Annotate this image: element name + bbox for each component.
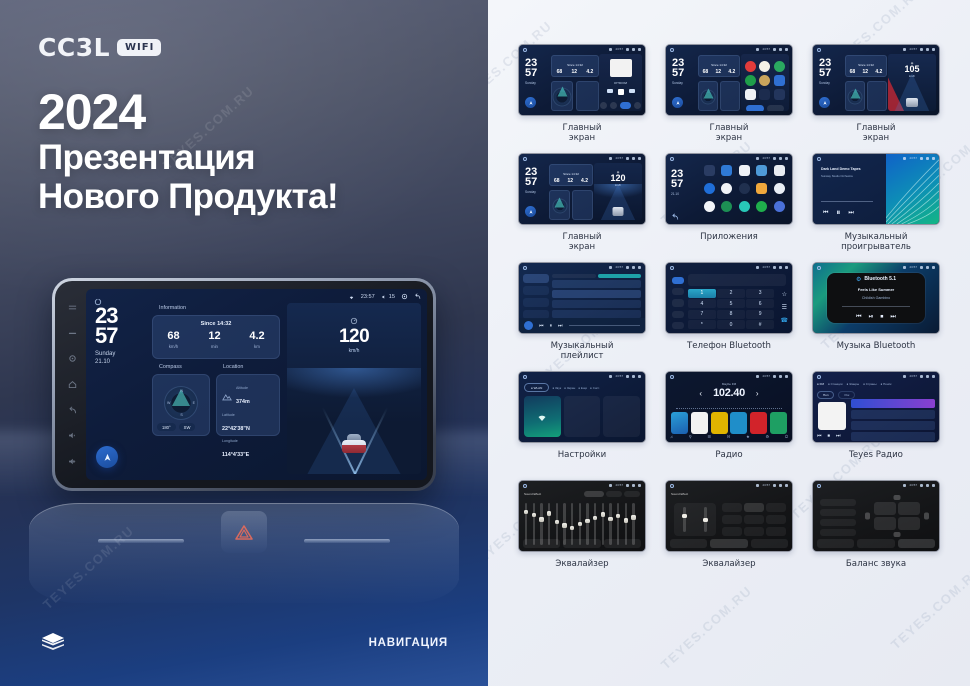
prev-icon: ⏮ xyxy=(823,210,828,217)
compass-s: S xyxy=(180,413,182,417)
player-bar: ⏮⏸⏭ xyxy=(519,318,645,333)
preset-4 xyxy=(730,412,747,434)
eq-footer-tabs[interactable] xyxy=(817,539,935,548)
logo-wifi-badge: WIFI xyxy=(117,39,161,56)
thumbnail-grid: 23:57 2357Sunday Since 14:32 68124.2 07:… xyxy=(512,44,946,589)
location-card xyxy=(576,81,599,111)
eq-preset-buttons[interactable] xyxy=(584,491,640,497)
thumb-caption: Музыка Bluetooth xyxy=(806,341,946,371)
thumb-caption: Эквалайзер xyxy=(659,559,799,589)
status-bar-mini: 23:57 xyxy=(609,156,641,160)
dial-display xyxy=(688,274,786,286)
radio-frequency: 102.40 xyxy=(713,387,745,399)
compass-card-title: Compass xyxy=(159,364,182,370)
next-icon: ⏭ xyxy=(890,314,895,321)
volume-up-key-icon[interactable] xyxy=(68,457,77,466)
preset-1 xyxy=(671,412,688,434)
app-icon-camera xyxy=(774,165,785,176)
vent-slot-left xyxy=(98,539,184,543)
navigation-arrow-icon xyxy=(672,97,683,108)
status-bar-mini: 23:57 xyxy=(609,265,641,269)
dial-key[interactable]: 3 xyxy=(746,289,774,298)
play-pause-icon: ⏯ xyxy=(869,314,874,321)
location-card-title: Location xyxy=(223,364,243,370)
thumb-caption: Главныйэкран xyxy=(512,123,652,153)
navigation-label: НАВИГАЦИЯ xyxy=(369,637,448,649)
dashboard-vent-panel xyxy=(29,503,458,603)
speed-navigation-panel: ◉ 105 km/h xyxy=(888,54,936,111)
gallery-cell[interactable]: 23:57 ● WLAN ● Звук ● Экран ● Ещё ● Сист… xyxy=(512,371,652,480)
speed-value: 105 xyxy=(888,65,936,74)
thumb-caption: Главныйэкран xyxy=(659,123,799,153)
app-icon-maps xyxy=(721,201,732,212)
home-icon xyxy=(670,48,674,52)
presentation-slide: TEYES.COM.RU TEYES.COM.RU TEYES.COM.RU C… xyxy=(0,0,970,686)
gallery-cell[interactable]: 23:57 xyxy=(512,262,652,371)
information-card[interactable]: Information Since 14:32 68 km/h 12 xyxy=(152,315,280,359)
location-card xyxy=(867,81,887,111)
hero-panel: TEYES.COM.RU TEYES.COM.RU TEYES.COM.RU C… xyxy=(0,0,488,686)
gallery-cell[interactable]: 23:57 2357Sunday Since 14:32 68124.2 07:… xyxy=(512,44,652,153)
settings-icon: ⚙ xyxy=(765,434,769,439)
favorite-icon: ☆ xyxy=(782,291,787,298)
home-icon xyxy=(817,484,821,488)
thumb-equalizer-bars[interactable]: 23:57 Sound Effect xyxy=(518,480,646,552)
eq-preset-grid[interactable] xyxy=(722,503,786,536)
status-bar-mini: 23:57 xyxy=(756,265,788,269)
wifi-icon xyxy=(348,294,355,300)
thumb-music-playlist[interactable]: 23:57 xyxy=(518,262,646,334)
home-icon xyxy=(523,157,527,161)
information-since-label: Since 14:32 xyxy=(153,321,279,327)
app-icon-shazam xyxy=(704,201,715,212)
app-grid xyxy=(701,162,787,214)
compass-card xyxy=(549,190,570,220)
play-pause-icon: ⏸ xyxy=(550,323,553,329)
thumb-caption: Эквалайзер xyxy=(512,559,652,589)
thumb-caption: Настройки xyxy=(512,450,652,480)
dial-key[interactable]: 9 xyxy=(746,310,774,319)
location-card xyxy=(720,81,740,111)
status-bar-mini: 23:57 xyxy=(903,156,935,160)
speed-unit: km/h xyxy=(287,348,421,354)
status-bar-mini: 23:57 xyxy=(903,483,935,487)
status-bar-mini: 23:57 xyxy=(903,374,935,378)
next-icon: ⏭ xyxy=(848,210,853,217)
logo-brand-text: CC3L xyxy=(38,33,110,62)
layers-icon xyxy=(40,632,66,654)
bluetooth-version: Bluetooth 5.1 xyxy=(864,276,896,282)
home-icon xyxy=(817,157,821,161)
tab-system: ● Сист. xyxy=(590,386,600,390)
status-bar-mini: 23:57 xyxy=(756,374,788,378)
compass-e: E xyxy=(193,401,195,405)
thumb-bluetooth-music[interactable]: 23:57 ⚙ Bluetooth 5.1 Feels Like Summer … xyxy=(812,262,940,334)
thumb-bluetooth-phone[interactable]: 23:57 1 2 3 4 5 6 xyxy=(665,262,793,334)
tab-display: ● Экран xyxy=(564,386,575,390)
home-icon xyxy=(817,48,821,52)
tab-wlan: ● WLAN xyxy=(524,383,549,392)
bluetooth-icon: ⚙ xyxy=(856,276,861,283)
speed-unit: km/h xyxy=(888,74,936,78)
preset-5 xyxy=(750,412,767,434)
app-icon-radio xyxy=(774,201,785,212)
status-volume-value: 15 xyxy=(389,294,395,300)
dial-key[interactable]: 6 xyxy=(746,299,774,308)
compass-card xyxy=(551,81,573,111)
location-altitude-row: Altitude 374m xyxy=(222,386,274,408)
app-shortcuts xyxy=(741,54,789,111)
balance-right xyxy=(924,513,929,520)
vent-slot-right xyxy=(304,539,390,543)
thumb-equalizer-presets[interactable]: 23:57 Sound Effect xyxy=(665,480,793,552)
playlist-sidebar xyxy=(523,274,549,317)
compass-card[interactable]: Compass N E S W 180° S xyxy=(152,374,210,436)
progress-bar xyxy=(842,306,911,307)
status-bar: 23:57 15 xyxy=(348,293,421,300)
dial-key[interactable]: * xyxy=(688,320,716,329)
wifi-icon xyxy=(535,411,549,422)
compass-n: N xyxy=(180,389,183,393)
speed-icon xyxy=(287,317,421,327)
playlist-rows xyxy=(552,274,641,317)
gallery-cell[interactable]: 23:57 235721.10 xyxy=(659,153,799,262)
track-artist: Sunway Studio Orchestra xyxy=(821,174,853,178)
clock-day: Sunday xyxy=(95,351,117,359)
tab-other: ● Ещё xyxy=(578,386,587,390)
status-bar-mini: 23:57 xyxy=(756,156,788,160)
location-card[interactable]: Location Altitude 374m Latitude xyxy=(216,374,280,436)
hazard-button[interactable] xyxy=(221,511,267,553)
hero-headline-line2: Нового Продукта! xyxy=(38,177,338,216)
thumb-caption: Главныйэкран xyxy=(806,123,946,153)
home-icon xyxy=(523,48,527,52)
gallery-cell[interactable]: 23:57 2357Sunday Since 14:32 68124.2 xyxy=(512,153,652,262)
app-icon-calculator xyxy=(756,165,767,176)
dial-key[interactable]: 7 xyxy=(688,310,716,319)
clock-date: 21.10 xyxy=(95,359,117,367)
stop-icon: ⏹ xyxy=(828,433,831,439)
next-station-icon: › xyxy=(756,389,759,398)
clock-widget: 235721.10 xyxy=(671,170,683,196)
call-icon: ☎ xyxy=(781,317,788,324)
menu-key-icon[interactable] xyxy=(68,303,77,312)
clock-widget: 2357Sunday xyxy=(819,59,831,85)
clock-widget: 2357Sunday xyxy=(525,59,537,85)
tab-sound: ● Звук xyxy=(552,386,561,390)
watermark: TEYES.COM.RU xyxy=(658,583,755,672)
information-card: Since 14:32 68124.2 xyxy=(549,164,593,186)
speed-value: 120 xyxy=(287,327,421,346)
thumb-applications[interactable]: 23:57 235721.10 xyxy=(665,153,793,225)
thumb-home-screen-speed[interactable]: 23:57 2357Sunday Since 14:32 68124.2 xyxy=(812,44,940,116)
hero-footer: НАВИГАЦИЯ xyxy=(0,614,488,686)
thumb-caption: Телефон Bluetooth xyxy=(659,341,799,371)
status-bar-mini: 23:57 xyxy=(609,47,641,51)
app-icon-bluetooth xyxy=(721,165,732,176)
home-icon xyxy=(670,157,674,161)
stat-duration: 12 min xyxy=(208,331,220,349)
balance-left xyxy=(865,513,870,520)
teyes-radio-tabs[interactable]: ● FM● Станции● Жанры● Страны● Поиск xyxy=(817,382,935,386)
volume-down-key-icon[interactable] xyxy=(68,431,77,440)
gallery-cell[interactable]: 23:57 Sound Effect xyxy=(512,480,652,589)
thumb-caption: Teyes Радио xyxy=(806,450,946,480)
radio-band: Maybe FM xyxy=(666,382,792,386)
hero-headline-line1: Презентация xyxy=(38,138,338,177)
dial-key[interactable]: 1 xyxy=(688,289,716,298)
radio-tuner[interactable]: ‹ 102.40 › xyxy=(666,387,792,399)
stop-icon: ⏹ xyxy=(880,314,883,321)
speed-readout: 120 km/h xyxy=(287,317,421,354)
prev-icon: ⏮ xyxy=(817,433,822,439)
stat-distance: 4.2 km xyxy=(249,331,264,349)
gallery-cell[interactable]: 23:57 ⚙ Bluetooth 5.1 Feels Like Summer … xyxy=(806,262,946,371)
location-longitude-row: Longitude 114°4'33"E xyxy=(222,439,274,461)
eq-footer-tabs[interactable] xyxy=(670,539,788,548)
speed-navigation-panel: ◉ 120 km/h xyxy=(594,163,642,220)
status-time: 23:57 xyxy=(361,294,375,300)
thumb-caption: Баланс звука xyxy=(806,559,946,589)
app-icon-wifi xyxy=(704,165,715,176)
band-icon: ♫ xyxy=(670,434,673,439)
navigation-arrow-icon xyxy=(819,97,830,108)
app-icon-cleaner xyxy=(704,183,715,194)
screenshot-gallery: TEYES.COM.RU TEYES.COM.RU TEYES.COM.RU T… xyxy=(488,0,970,686)
thumb-caption: Музыкальныйплейлист xyxy=(512,341,652,371)
location-card xyxy=(572,190,593,220)
information-card: Since 14:32 68124.2 xyxy=(845,55,887,77)
gallery-cell[interactable]: 23:57 ● FM● Станции● Жанры● Страны● Поис… xyxy=(806,371,946,480)
mountain-icon xyxy=(222,393,232,401)
power-key-icon[interactable] xyxy=(68,329,77,338)
thumb-home-screen-apps[interactable]: 23:57 2357Sunday Since 14:32 68124.2 xyxy=(665,44,793,116)
status-bar-mini: 23:57 xyxy=(609,374,641,378)
dialer-actions[interactable]: ☆☰☎ xyxy=(781,291,788,324)
balance-presets[interactable] xyxy=(820,499,856,536)
teyes-radio-subtabs[interactable]: Поп Рок xyxy=(817,391,935,399)
app-icon-bluetooth-music xyxy=(739,165,750,176)
home-icon xyxy=(670,266,674,270)
app-icon-carplay xyxy=(721,183,732,194)
gallery-cell[interactable]: 23:57 2357Sunday Since 14:32 68124.2 xyxy=(806,44,946,153)
information-card-title: Information xyxy=(159,305,186,311)
dialer-sidebar xyxy=(670,274,685,329)
play-pause-icon: ⏸ xyxy=(836,208,840,218)
balance-pad[interactable] xyxy=(865,495,929,537)
thumb-music-player[interactable]: 23:57 Dark Land Demo Tapes Sunway Studio… xyxy=(812,153,940,225)
station-artwork xyxy=(818,402,846,430)
bluetooth-music-card: ⚙ Bluetooth 5.1 Feels Like Summer Childi… xyxy=(827,273,925,323)
player-controls: ⏮ ⏸ ⏭ xyxy=(823,208,854,218)
dial-key[interactable]: # xyxy=(746,320,774,329)
app-icon-gallery xyxy=(774,183,785,194)
gallery-cell[interactable]: 23:57 Dark Land Demo Tapes Sunway Studio… xyxy=(806,153,946,262)
balance-rear xyxy=(894,532,901,537)
fav-icon: ★ xyxy=(746,434,750,439)
speed-value: 120 xyxy=(594,174,642,183)
dashboard-photo: 23:57 15 xyxy=(0,258,488,618)
navigation-arrow-icon xyxy=(525,206,536,217)
thumb-sound-balance[interactable]: 23:57 xyxy=(812,480,940,552)
next-icon: ⏭ xyxy=(836,433,841,439)
speed-unit: km/h xyxy=(594,183,642,187)
contacts-icon: ☰ xyxy=(782,304,787,311)
track-title: Feels Like Summer xyxy=(858,287,894,292)
thumb-teyes-radio[interactable]: 23:57 ● FM● Станции● Жанры● Страны● Поис… xyxy=(812,371,940,443)
information-card: Since 14:32 68124.2 xyxy=(551,55,599,77)
dial-key[interactable]: 8 xyxy=(717,310,745,319)
back-arrow-icon xyxy=(671,208,679,216)
thumb-caption: Музыкальныйпроигрыватель xyxy=(806,232,946,262)
speed-navigation-panel[interactable]: 120 km/h xyxy=(287,303,421,474)
thumb-radio[interactable]: 23:57 Maybe FM ‹ 102.40 › xyxy=(665,371,793,443)
gallery-cell[interactable]: 23:57 Sound Effect xyxy=(659,480,799,589)
thumb-home-screen-player[interactable]: 23:57 2357Sunday Since 14:32 68124.2 07:… xyxy=(518,44,646,116)
gallery-cell[interactable]: 23:57 2357Sunday Since 14:32 68124.2 xyxy=(659,44,799,153)
track-artist: Childish Gambino xyxy=(862,296,890,300)
thumb-home-screen-nav[interactable]: 23:57 2357Sunday Since 14:32 68124.2 xyxy=(518,153,646,225)
compass-card xyxy=(698,81,718,111)
clock-widget: 2357Sunday xyxy=(525,168,537,194)
prev-station-icon: ‹ xyxy=(699,389,702,398)
eq-preset-label: Sound Effect xyxy=(671,492,688,496)
app-icon-dvr xyxy=(739,183,750,194)
hero-year: 2024 xyxy=(38,86,338,138)
eq-icon: ☵ xyxy=(727,434,731,439)
app-icon-musicplayer xyxy=(739,201,750,212)
gallery-cell[interactable]: 23:57 Maybe FM ‹ 102.40 › xyxy=(659,371,799,480)
home-icon[interactable] xyxy=(94,293,102,301)
home-left-column: 23 57 Sunday 21.10 Information Since 14:… xyxy=(86,289,287,480)
head-unit-bezel: 23:57 15 xyxy=(52,278,436,491)
home-icon xyxy=(523,266,527,270)
thumb-settings[interactable]: 23:57 ● WLAN ● Звук ● Экран ● Ещё ● Сист… xyxy=(518,371,646,443)
thumb-caption: Приложения xyxy=(659,232,799,262)
information-stats: 68 km/h 12 min 4.2 km xyxy=(153,331,279,349)
status-bar-mini: 23:57 xyxy=(609,483,641,487)
wave-graphic xyxy=(886,154,939,224)
clock-widget: 23 57 Sunday 21.10 xyxy=(95,306,117,367)
speaker-quad xyxy=(874,502,920,530)
home-icon xyxy=(670,484,674,488)
next-icon: ⏭ xyxy=(558,323,563,329)
head-unit-side-keys[interactable] xyxy=(63,289,82,480)
dial-key[interactable]: 5 xyxy=(717,299,745,308)
dial-key[interactable]: 0 xyxy=(717,320,745,329)
stat-speed: 68 km/h xyxy=(167,331,179,349)
tile-hotspot xyxy=(564,396,601,437)
compass-readouts: 180° SW xyxy=(157,423,195,431)
back-key-icon[interactable] xyxy=(68,406,77,415)
compass-card xyxy=(845,81,865,111)
information-card: Since 14:32 68124.2 xyxy=(698,55,740,77)
compass-dial: N E S W xyxy=(164,386,198,420)
search-icon: ⚲ xyxy=(689,434,692,439)
app-icon-filemanager xyxy=(756,183,767,194)
back-arrow-icon[interactable] xyxy=(414,293,421,300)
thumb-caption: Радио xyxy=(659,450,799,480)
home-icon xyxy=(817,375,821,379)
gear-icon[interactable] xyxy=(401,293,408,300)
teyes-player-controls[interactable]: ⏮⏹⏭ xyxy=(817,433,841,439)
home-icon xyxy=(523,375,527,379)
hero-headline: 2024 Презентация Нового Продукта! xyxy=(38,86,338,216)
preset-2 xyxy=(691,412,708,434)
tile-wifi xyxy=(524,396,561,437)
station-list[interactable] xyxy=(851,399,935,438)
dial-key[interactable]: 4 xyxy=(688,299,716,308)
settings-tiles[interactable] xyxy=(524,396,640,437)
navigation-arrow-icon[interactable] xyxy=(96,446,118,468)
product-logo: CC3L WIFI xyxy=(38,33,161,62)
location-latitude-row: Latitude 22°42'38"N xyxy=(222,413,274,435)
eq-footer-tabs[interactable] xyxy=(523,539,641,548)
power-icon: ⏻ xyxy=(785,434,788,439)
balance-front xyxy=(894,495,901,500)
preset-6 xyxy=(770,412,787,434)
home-icon xyxy=(670,375,674,379)
navigation-arrow-icon xyxy=(525,97,536,108)
radio-toolbar[interactable]: ♫⚲☰ ☵★⚙ ⏻ xyxy=(670,434,788,439)
status-bar-mini: 23:57 xyxy=(903,47,935,51)
prev-icon: ⏮ xyxy=(856,314,861,321)
eq-preset-label: Sound Effect xyxy=(524,492,541,496)
list-icon: ☰ xyxy=(707,434,711,439)
clock-widget: 2357Sunday xyxy=(672,59,684,85)
clock-minutes: 57 xyxy=(95,326,117,346)
dial-key[interactable]: 2 xyxy=(717,289,745,298)
thumb-caption: Главныйэкран xyxy=(512,232,652,262)
home-key-icon[interactable] xyxy=(68,380,77,389)
settings-key-icon[interactable] xyxy=(68,354,77,363)
player-widget: 07:50 FM xyxy=(599,54,642,111)
progress-bar xyxy=(821,201,873,202)
compass-abbrev: SW xyxy=(179,423,196,431)
tile-more xyxy=(603,396,640,437)
status-bar-mini: 23:57 xyxy=(756,483,788,487)
status-bar-mini: 23:57 xyxy=(903,265,935,269)
gallery-cell[interactable]: 23:57 1 2 3 4 5 6 xyxy=(659,262,799,371)
status-bar-mini: 23:57 xyxy=(756,47,788,51)
prev-icon: ⏮ xyxy=(539,323,544,329)
bt-controls[interactable]: ⏮⏯ ⏹⏭ xyxy=(856,314,896,321)
app-icon-playstore xyxy=(756,201,767,212)
preset-3 xyxy=(711,412,728,434)
vehicle-model xyxy=(341,431,367,453)
hazard-triangle-icon xyxy=(234,523,254,541)
volume-icon: 15 xyxy=(381,294,395,300)
radio-presets[interactable] xyxy=(671,412,787,434)
eq-dual-sliders[interactable] xyxy=(674,503,716,536)
head-unit-body: 23:57 15 xyxy=(55,281,433,488)
track-title: Dark Land Demo Tapes xyxy=(821,167,861,171)
dial-pad[interactable]: 1 2 3 4 5 6 7 8 9 * 0 # xyxy=(688,289,774,329)
home-icon xyxy=(817,266,821,270)
gallery-cell[interactable]: 23:57 xyxy=(806,480,946,589)
settings-tabs[interactable]: ● WLAN ● Звук ● Экран ● Ещё ● Сист. xyxy=(524,383,640,392)
home-icon xyxy=(523,484,527,488)
compass-heading: 180° xyxy=(157,423,176,431)
head-unit-screen[interactable]: 23:57 15 xyxy=(86,289,427,480)
compass-w: W xyxy=(167,401,170,405)
tuning-scale xyxy=(676,405,782,409)
